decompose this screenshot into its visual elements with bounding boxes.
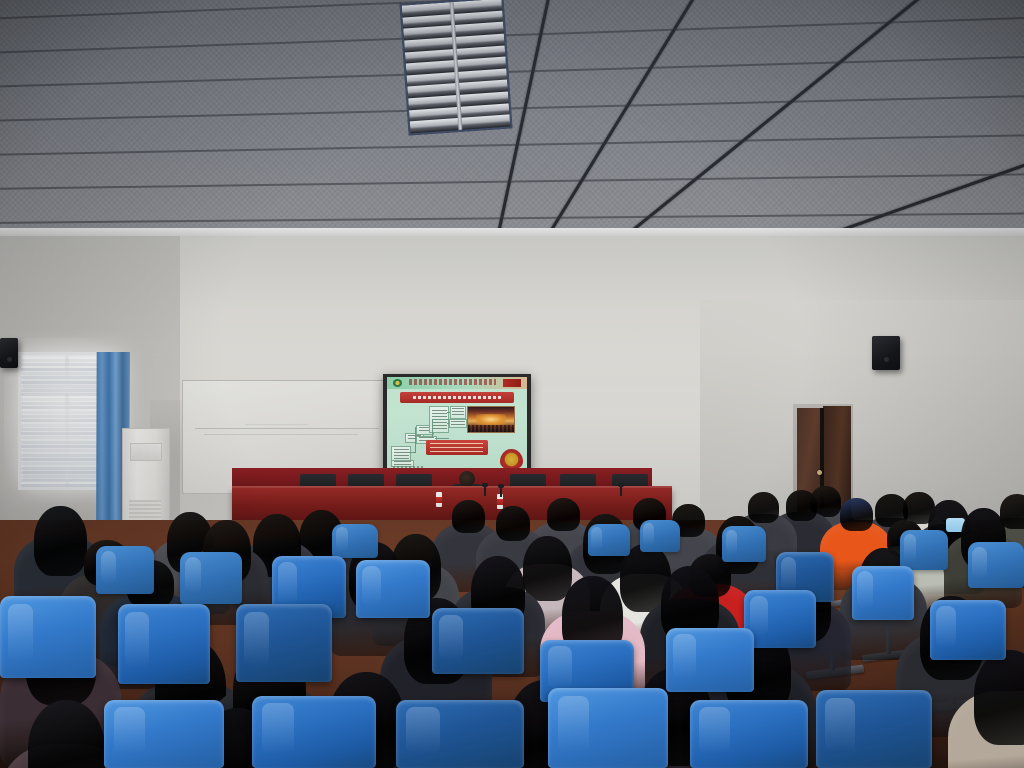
audience-seat[interactable] <box>900 530 948 570</box>
projection-screen <box>383 374 531 476</box>
slide-flow-line <box>447 423 450 424</box>
microphone-head <box>618 483 624 487</box>
audience-seat[interactable] <box>432 608 524 674</box>
slide-title-banner <box>400 392 515 403</box>
party-emblem-icon <box>500 449 522 470</box>
slide-flow-line <box>432 419 449 420</box>
microphone-head <box>482 483 488 487</box>
microphone <box>500 487 502 497</box>
slide-flow-line <box>409 452 416 453</box>
audience-seat[interactable] <box>690 700 808 768</box>
audience-seat[interactable] <box>852 566 914 620</box>
audience-seat[interactable] <box>180 552 242 604</box>
audience-seat[interactable] <box>588 524 630 556</box>
slide-flow-box <box>450 406 466 420</box>
slide-logo-icon <box>393 379 403 387</box>
audience-seat[interactable] <box>252 696 376 768</box>
slide-photo-great-hall <box>467 406 515 433</box>
audience-member <box>948 650 1024 768</box>
audience-seat[interactable] <box>816 690 932 768</box>
slide-flow-line <box>432 419 433 438</box>
slide-red-callout <box>426 440 488 454</box>
ac-control-panel <box>130 443 162 461</box>
presenter-head <box>459 471 475 487</box>
microphone <box>620 486 622 496</box>
audience-seat[interactable] <box>930 600 1006 660</box>
door-handle-icon[interactable] <box>817 470 822 475</box>
presentation-slide <box>387 377 527 473</box>
slide-flow-box <box>449 419 468 428</box>
audience-hair <box>28 700 105 768</box>
slide-header-text <box>409 379 496 385</box>
audience-hair <box>974 650 1024 745</box>
audience-seat[interactable] <box>396 700 524 768</box>
slide-flag-icon <box>503 379 521 387</box>
audience-seat[interactable] <box>236 604 332 682</box>
audience-seat[interactable] <box>96 546 154 594</box>
audience-seat[interactable] <box>0 596 96 678</box>
slide-title-text <box>413 396 500 399</box>
slide-flow-line <box>447 412 450 413</box>
audience-seat[interactable] <box>118 604 210 684</box>
audience-seat[interactable] <box>332 524 378 558</box>
microphone-head <box>498 484 504 488</box>
audience-seat[interactable] <box>744 590 816 648</box>
audience-seat[interactable] <box>640 520 680 552</box>
microphone <box>484 486 486 496</box>
audience-seat[interactable] <box>722 526 766 562</box>
ceiling-light-center <box>400 0 513 135</box>
audience-seat[interactable] <box>666 628 754 692</box>
slide-flow-line <box>435 438 449 439</box>
audience-seat[interactable] <box>548 688 668 768</box>
audience-seat[interactable] <box>968 542 1024 588</box>
wall-speaker-left <box>0 338 18 368</box>
audience-seat[interactable] <box>356 560 430 618</box>
slide-flow-line <box>415 427 416 452</box>
slide-callout-text <box>430 443 483 452</box>
audience-seat[interactable] <box>104 700 224 768</box>
conference-room-photo <box>0 0 1024 768</box>
wall-speaker-right <box>872 336 900 370</box>
